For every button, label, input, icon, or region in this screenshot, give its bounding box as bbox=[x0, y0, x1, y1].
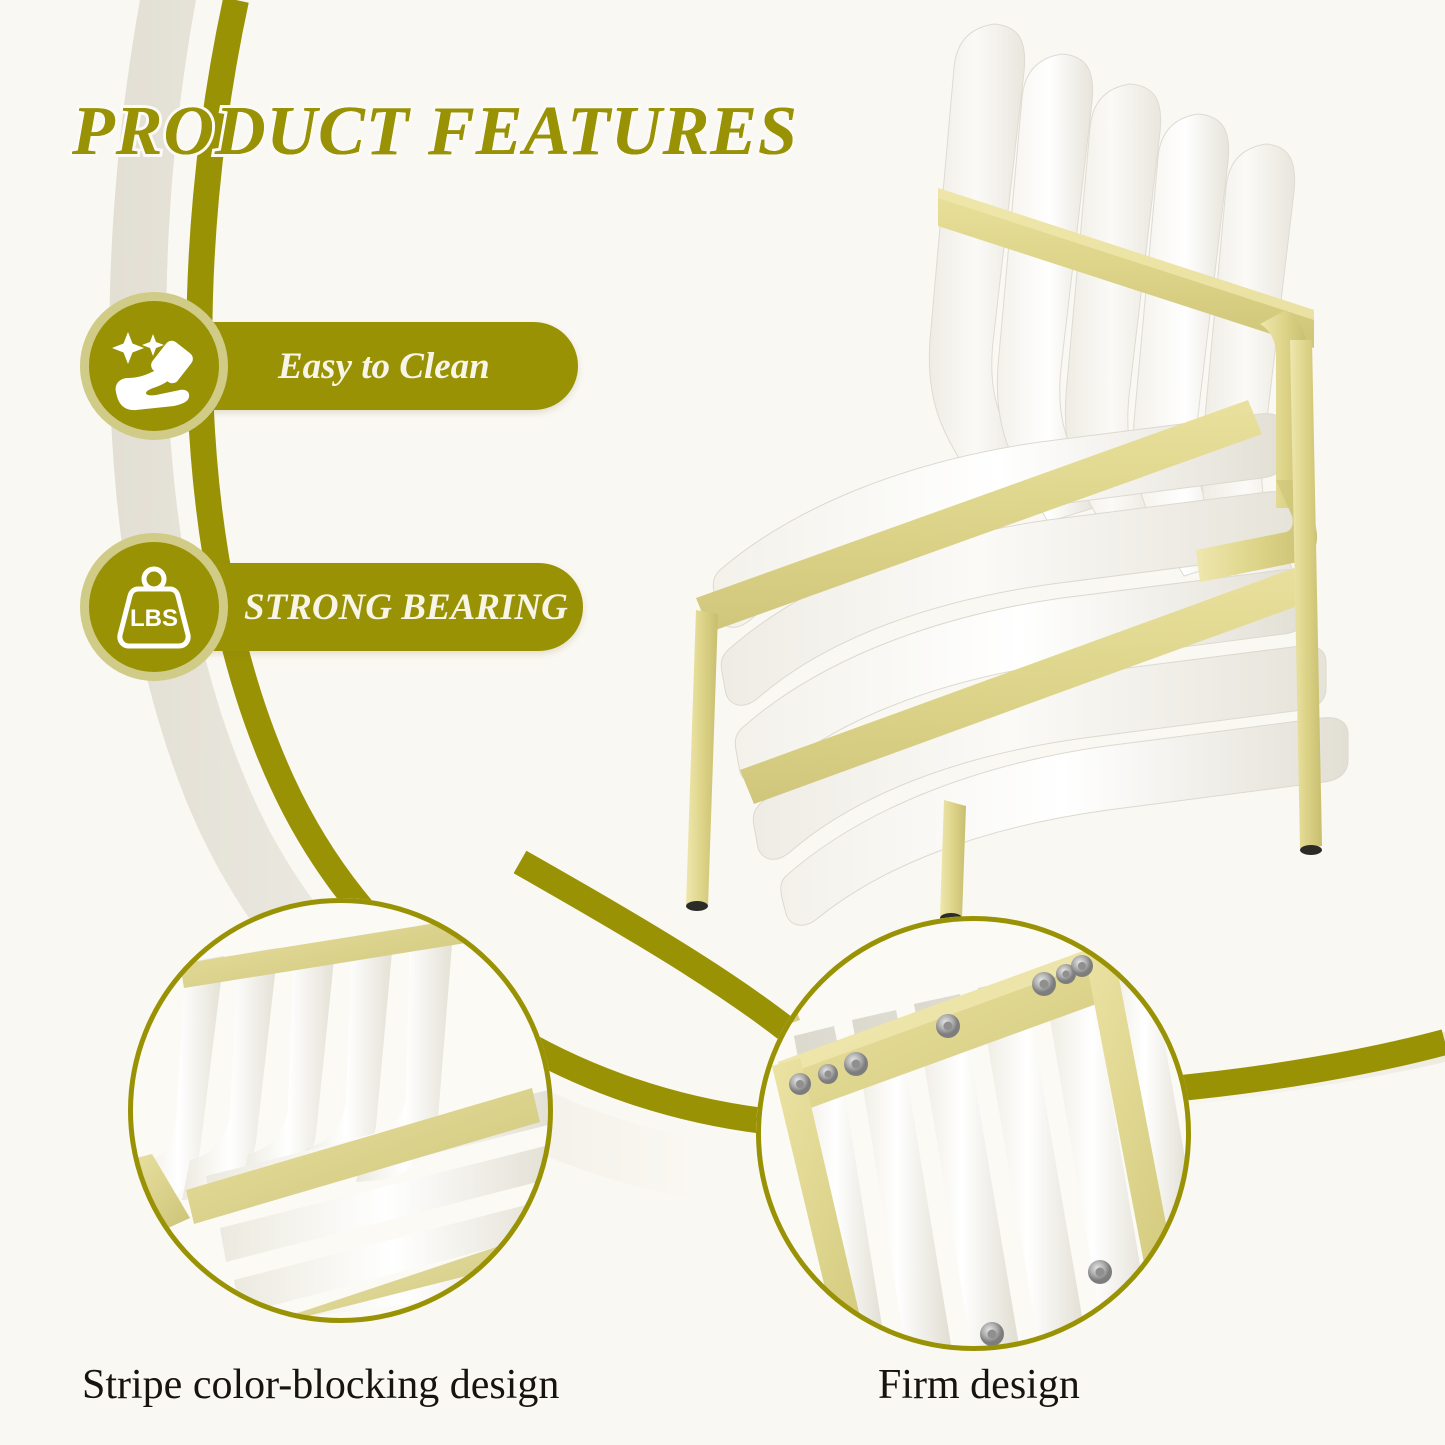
feature-item-easy-to-clean[interactable]: Easy to Clean bbox=[80, 292, 228, 440]
feature-label-1: STRONG BEARING bbox=[244, 586, 568, 629]
weight-lbs-icon: LBS bbox=[80, 533, 228, 681]
weight-icon-text: LBS bbox=[130, 605, 178, 632]
product-features-infographic: PRODUCT FEATURES PRODUCT FEATURES Easy t… bbox=[0, 0, 1445, 1445]
feature-pill-1: STRONG BEARING bbox=[168, 563, 583, 651]
feature-label-0: Easy to Clean bbox=[278, 345, 490, 388]
feature-item-strong-bearing[interactable]: STRONG BEARING LBS bbox=[80, 533, 228, 681]
caption-stripe-design: Stripe color-blocking design bbox=[82, 1361, 559, 1409]
detail-photo-stripe bbox=[128, 898, 553, 1323]
hand-sponge-sparkle-icon bbox=[80, 292, 228, 440]
page-title: PRODUCT FEATURES bbox=[72, 92, 798, 172]
feature-pill-0: Easy to Clean bbox=[168, 322, 578, 410]
detail-photo-firm bbox=[756, 916, 1191, 1351]
caption-firm-design: Firm design bbox=[878, 1361, 1080, 1409]
